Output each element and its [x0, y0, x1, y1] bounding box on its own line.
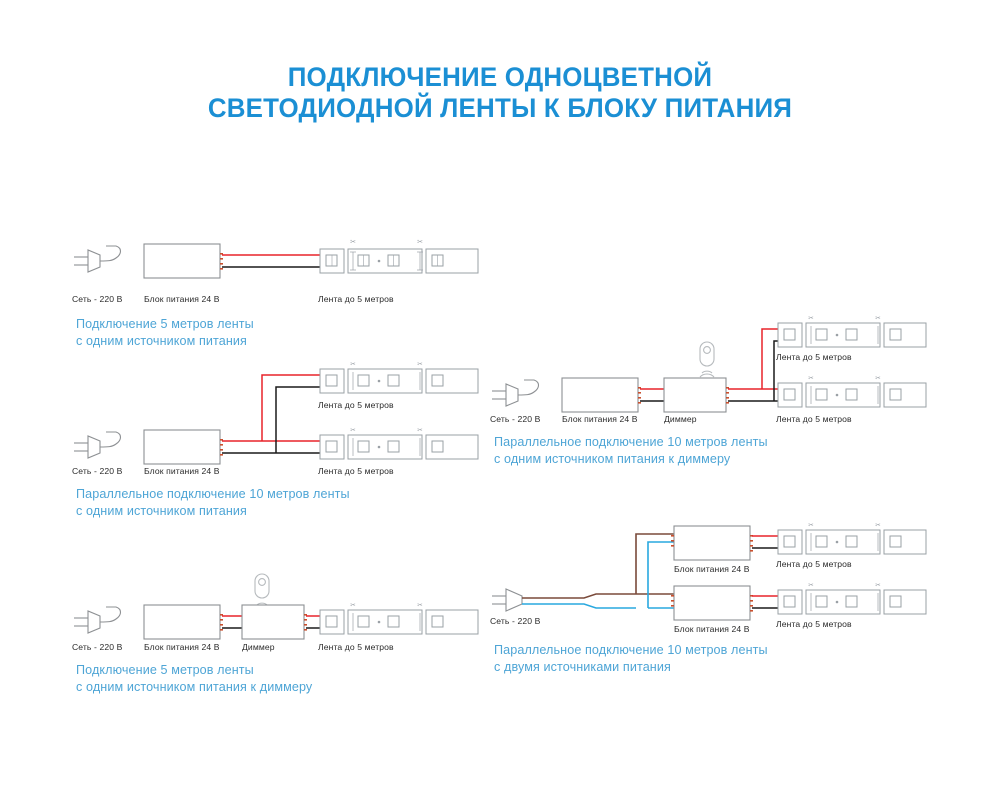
- label-power-supply: Блок питания 24 В: [674, 624, 750, 634]
- svg-text:✂: ✂: [417, 427, 423, 434]
- label-mains: Сеть - 220 В: [72, 294, 122, 304]
- svg-text:✂: ✂: [350, 239, 356, 246]
- power-supply-box: [674, 586, 750, 620]
- power-supply-box: [144, 430, 220, 464]
- diagram-3-schematic: ✂ ✂: [70, 572, 490, 662]
- mains-plug-icon: [74, 246, 121, 272]
- label-led-strip: Лента до 5 метров: [776, 352, 852, 362]
- mains-plug-icon: [492, 589, 522, 611]
- svg-text:✂: ✂: [417, 361, 423, 368]
- diagram-3-single-strip-dimmer: ✂ ✂ Сеть - 220 В Блок питания 24 В Димме…: [70, 572, 490, 702]
- led-strip: ✂ ✂: [320, 239, 478, 273]
- remote-control-icon: [255, 574, 269, 609]
- svg-text:✂: ✂: [875, 582, 881, 589]
- diagram-2-parallel-one-psu: ✂ ✂ ✂ ✂ Лента до 5 мет: [70, 362, 490, 532]
- wire-live-brown: [522, 594, 636, 598]
- remote-control-icon: [700, 342, 714, 377]
- svg-text:✂: ✂: [417, 239, 423, 246]
- label-mains: Сеть - 220 В: [490, 414, 540, 424]
- label-led-strip: Лента до 5 метров: [318, 642, 394, 652]
- svg-text:✂: ✂: [875, 375, 881, 382]
- mains-plug-icon: [74, 432, 121, 458]
- svg-text:✂: ✂: [350, 427, 356, 434]
- wire-positive-branch-up: [262, 375, 320, 441]
- diagram-4-parallel-dimmer: ✂ ✂ ✂ ✂ Лента до 5 мет: [488, 318, 928, 478]
- svg-text:✂: ✂: [875, 522, 881, 529]
- label-led-strip: Лента до 5 метров: [318, 400, 394, 410]
- mains-plug-icon: [492, 380, 539, 406]
- led-strip: ✂ ✂: [320, 361, 478, 393]
- label-led-strip: Лента до 5 метров: [776, 619, 852, 629]
- diagram-5-caption: Параллельное подключение 10 метров ленты…: [494, 642, 768, 676]
- diagram-4-caption: Параллельное подключение 10 метров ленты…: [494, 434, 768, 468]
- title-line-1: ПОДКЛЮЧЕНИЕ ОДНОЦВЕТНОЙ: [288, 62, 713, 92]
- wire-negative-branch-up: [774, 341, 778, 401]
- wire-neutral-riser: [648, 542, 674, 608]
- led-strip: ✂ ✂: [778, 315, 926, 347]
- diagram-1-caption: Подключение 5 метров ленты с одним источ…: [76, 316, 254, 350]
- label-led-strip: Лента до 5 метров: [318, 294, 394, 304]
- power-supply-box: [562, 378, 638, 412]
- label-mains: Сеть - 220 В: [72, 466, 122, 476]
- page-title: ПОДКЛЮЧЕНИЕ ОДНОЦВЕТНОЙ СВЕТОДИОДНОЙ ЛЕН…: [20, 62, 980, 124]
- label-power-supply: Блок питания 24 В: [674, 564, 750, 574]
- title-line-2: СВЕТОДИОДНОЙ ЛЕНТЫ К БЛОКУ ПИТАНИЯ: [20, 93, 980, 124]
- label-led-strip: Лента до 5 метров: [318, 466, 394, 476]
- svg-text:✂: ✂: [875, 315, 881, 322]
- label-led-strip: Лента до 5 метров: [776, 559, 852, 569]
- label-mains: Сеть - 220 В: [490, 616, 540, 626]
- label-power-supply: Блок питания 24 В: [562, 414, 638, 424]
- svg-text:✂: ✂: [417, 602, 423, 609]
- diagram-1-single-strip: ✂ ✂ Сеть - 220 В Блок питания 24 В Лента…: [70, 236, 490, 336]
- svg-text:✂: ✂: [808, 582, 814, 589]
- diagram-3-caption: Подключение 5 метров ленты с одним источ…: [76, 662, 312, 696]
- diagram-2-schematic: ✂ ✂ ✂ ✂: [70, 362, 490, 492]
- wire-live-riser: [636, 534, 674, 594]
- dimmer-box: [242, 605, 304, 639]
- led-strip: ✂ ✂: [778, 375, 926, 407]
- wire-neutral-blue: [522, 604, 636, 608]
- label-dimmer: Диммер: [664, 414, 697, 424]
- svg-text:✂: ✂: [808, 315, 814, 322]
- label-power-supply: Блок питания 24 В: [144, 294, 220, 304]
- power-supply-box: [144, 244, 220, 278]
- led-strip: ✂ ✂: [320, 602, 478, 634]
- led-strip: ✂ ✂: [778, 522, 926, 554]
- mains-plug-icon: [74, 607, 121, 633]
- power-supply-box: [674, 526, 750, 560]
- label-mains: Сеть - 220 В: [72, 642, 122, 652]
- power-supply-box: [144, 605, 220, 639]
- diagram-5-parallel-two-psu: ✂ ✂ ✂ ✂ Блок питания 2: [488, 520, 928, 690]
- dimmer-box: [664, 378, 726, 412]
- led-strip: ✂ ✂: [320, 427, 478, 459]
- diagram-5-schematic: ✂ ✂ ✂ ✂: [488, 520, 928, 660]
- diagram-1-schematic: ✂ ✂: [70, 236, 490, 296]
- diagram-2-caption: Параллельное подключение 10 метров ленты…: [76, 486, 350, 520]
- diagram-4-schematic: ✂ ✂ ✂ ✂: [488, 318, 928, 443]
- wiring-diagram-poster: ПОДКЛЮЧЕНИЕ ОДНОЦВЕТНОЙ СВЕТОДИОДНОЙ ЛЕН…: [0, 0, 1000, 800]
- svg-text:✂: ✂: [808, 522, 814, 529]
- label-power-supply: Блок питания 24 В: [144, 642, 220, 652]
- svg-text:✂: ✂: [808, 375, 814, 382]
- svg-text:✂: ✂: [350, 602, 356, 609]
- led-strip: ✂ ✂: [778, 582, 926, 614]
- wire-negative-branch-up: [276, 387, 320, 453]
- label-led-strip: Лента до 5 метров: [776, 414, 852, 424]
- label-dimmer: Диммер: [242, 642, 275, 652]
- label-power-supply: Блок питания 24 В: [144, 466, 220, 476]
- svg-text:✂: ✂: [350, 361, 356, 368]
